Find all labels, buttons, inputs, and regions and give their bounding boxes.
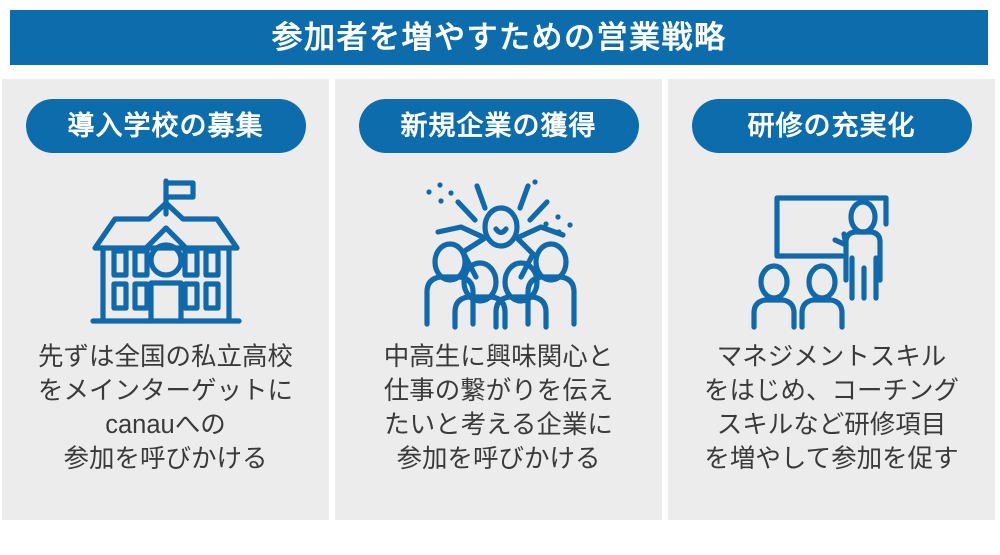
strategy-columns: 導入学校の募集 [2, 79, 995, 520]
column-heading-label-3: 研修の充実化 [748, 113, 916, 140]
column-heading-label-1: 導入学校の募集 [68, 113, 264, 140]
strategy-column-new-companies: 新規企業の獲得 [335, 79, 662, 520]
column-heading-pill-2: 新規企業の獲得 [359, 99, 639, 153]
column-heading-label-2: 新規企業の獲得 [401, 113, 597, 140]
training-presentation-icon [737, 167, 927, 337]
column-heading-pill-1: 導入学校の募集 [26, 99, 306, 153]
column-body-text-1: 先ずは全国の私立高校 をメインターゲットに canauへの 参加を呼びかける [38, 341, 293, 477]
strategy-column-school-recruitment: 導入学校の募集 [2, 79, 329, 520]
column-body-text-3: マネジメントスキル をはじめ、コーチング スキルなど研修項目 を増やして参加を促… [704, 341, 959, 477]
celebrating-crowd-icon [404, 167, 594, 337]
column-body-text-2: 中高生に興味関心と 仕事の繋がりを伝え たいと考える企業に 参加を呼びかける [384, 341, 614, 477]
school-building-icon [71, 167, 261, 337]
page-title: 参加者を増やすための営業戦略 [272, 22, 727, 53]
header-banner: 参加者を増やすための営業戦略 [10, 10, 988, 65]
column-heading-pill-3: 研修の充実化 [692, 99, 972, 153]
strategy-column-training: 研修の充実化 [668, 79, 995, 520]
